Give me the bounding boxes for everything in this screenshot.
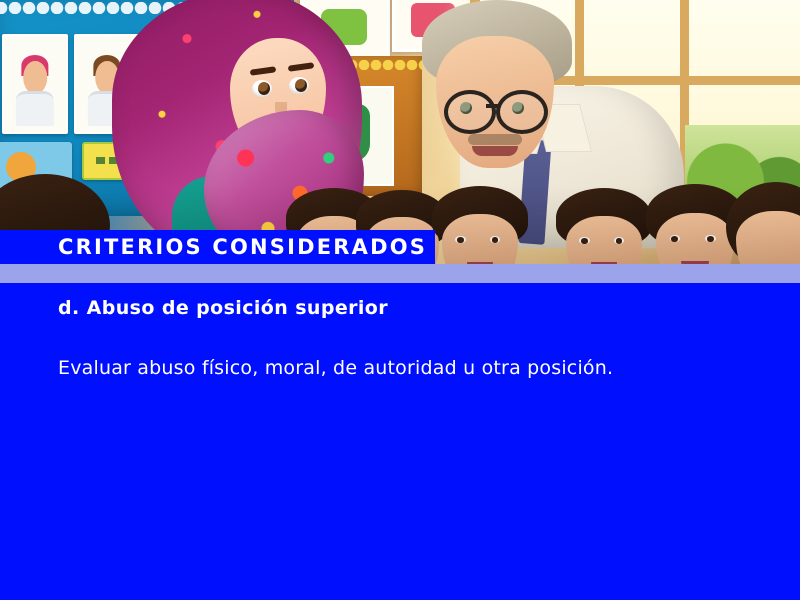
page-title: CRITERIOS CONSIDERADOS <box>0 235 427 259</box>
section-body-text: Evaluar abuso físico, moral, de autorida… <box>58 355 678 381</box>
poster-head <box>23 61 47 94</box>
student-face <box>736 211 800 264</box>
student-face <box>442 214 519 264</box>
section-subtitle: d. Abuso de posición superior <box>58 297 388 319</box>
girl-pupil <box>295 79 307 92</box>
student-face <box>566 216 643 264</box>
teacher-moustache <box>468 134 522 145</box>
glasses-bridge <box>486 104 500 108</box>
title-bar: CRITERIOS CONSIDERADOS <box>0 230 435 264</box>
student-pupil <box>581 238 588 243</box>
student-pupil <box>616 238 623 243</box>
teacher-mouth <box>472 146 518 156</box>
board-poster <box>2 34 68 134</box>
classroom-photo <box>0 0 800 264</box>
slide-root: CRITERIOS CONSIDERADOS d. Abuso de posic… <box>0 0 800 600</box>
glasses-icon <box>444 90 496 134</box>
student-pupil <box>707 236 714 242</box>
student-head <box>556 188 652 264</box>
student-head <box>432 186 528 264</box>
student-face <box>656 213 734 264</box>
content-panel: d. Abuso de posición superior Evaluar ab… <box>0 283 800 600</box>
accent-divider <box>0 264 800 283</box>
student-head <box>726 182 800 264</box>
glasses-icon <box>496 90 548 134</box>
poster-body <box>16 91 54 127</box>
girl-pupil <box>258 82 270 95</box>
student-pupil <box>492 237 499 242</box>
student-pupil <box>457 237 464 242</box>
